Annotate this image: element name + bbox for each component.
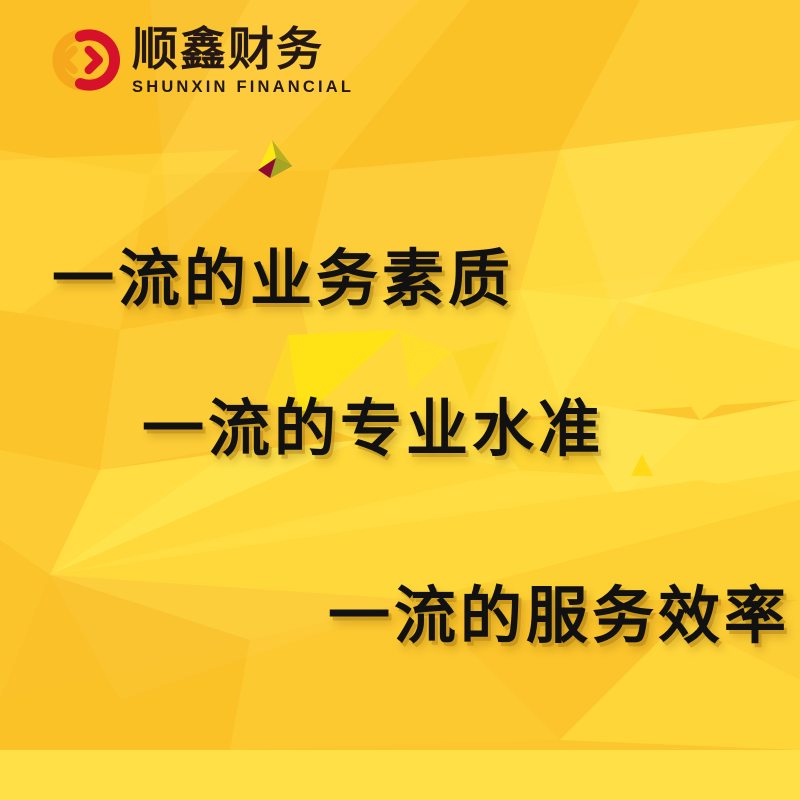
tagline-line-2: 一流的专业水准 [142, 398, 604, 460]
small-yellow-triangle-icon [629, 452, 655, 478]
low-poly-pyramid-icon [250, 136, 300, 186]
brand-wordmark: 顺鑫财务 SHUNXIN FINANCIAL [132, 26, 354, 96]
tagline-line-1: 一流的业务素质 [52, 248, 514, 310]
brand-logo: 顺鑫财务 SHUNXIN FINANCIAL [40, 18, 354, 102]
poster-canvas: 顺鑫财务 SHUNXIN FINANCIAL 一流的业务素质 一流的专业水准 一… [0, 0, 800, 800]
tagline-line-3: 一流的服务效率 [328, 585, 790, 647]
company-name-cn: 顺鑫财务 [132, 26, 354, 72]
shunxin-s-monogram-icon [40, 18, 124, 102]
bottom-color-band [0, 750, 800, 800]
company-name-en: SHUNXIN FINANCIAL [132, 79, 354, 96]
